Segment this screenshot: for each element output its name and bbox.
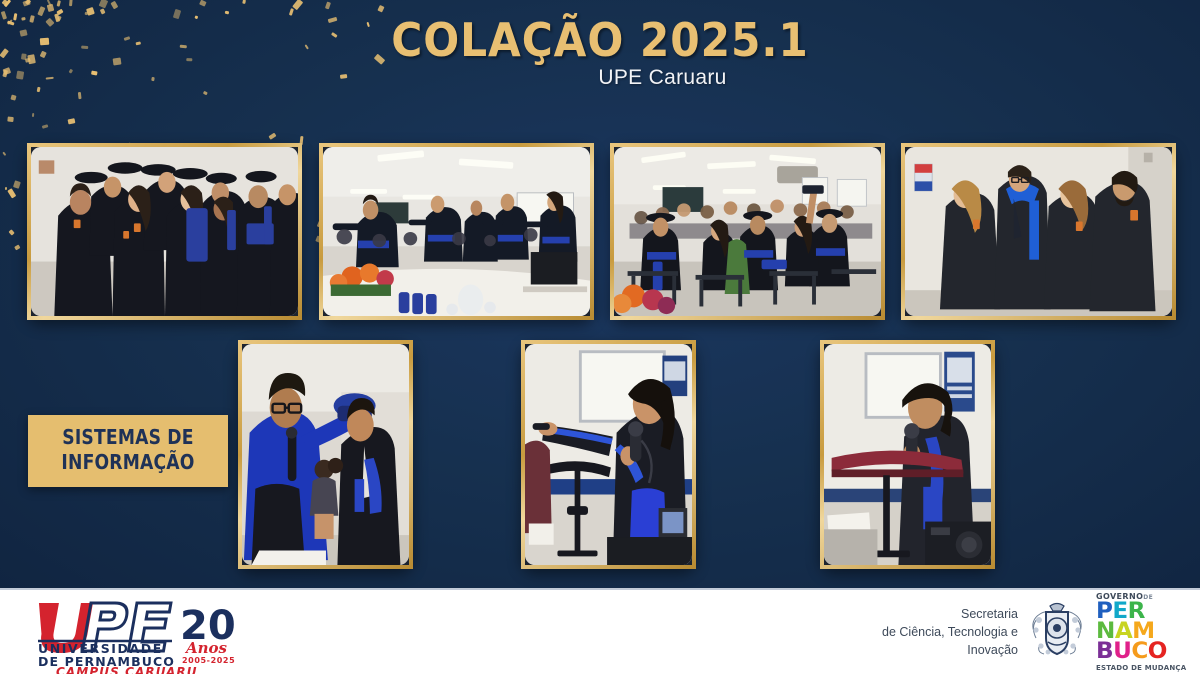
photo-frame-seated-audience[interactable] [610,143,885,320]
svg-text:2005-2025: 2005-2025 [182,656,235,665]
government-tagline: ESTADO DE MUDANÇA [1096,664,1192,672]
slide-canvas: COLAÇÃO 2025.1 UPE Caruaru [0,0,1200,674]
government-row-3: BUCO [1096,642,1197,662]
photo-frame-speaker-man[interactable] [820,340,995,569]
course-badge-line1: SISTEMAS DE [47,425,209,450]
upe-logo: UNIVERSIDADE DE PERNAMBUCO 20 Anos 2005-… [26,597,266,667]
photo-cap-placing [242,344,409,565]
svg-text:Anos: Anos [184,639,228,657]
photo-seated-audience [614,147,881,316]
photo-speaker-man [824,344,991,565]
photo-speaker-woman [525,344,692,565]
upe-campus-label: CAMPUS CARUARU [56,665,198,674]
secretariat-text: Secretaria de Ciência, Tecnologia e Inov… [882,605,1018,659]
photo-frame-cap-placing[interactable] [238,340,413,569]
coat-of-arms-icon [1026,598,1088,665]
footer-bar: UNIVERSIDADE DE PERNAMBUCO 20 Anos 2005-… [0,588,1200,674]
course-badge-line2: INFORMAÇÃO [47,450,209,475]
page-title: COLAÇÃO 2025.1 [48,16,1152,64]
photo-faculty-four [905,147,1172,316]
government-logo: GOVERNODE PER NAM BUCO ESTADO DE MUDANÇA [1096,592,1192,673]
footer-right-block: Secretaria de Ciência, Tecnologia e Inov… [882,592,1192,673]
photo-oath-ceremony [323,147,590,316]
photo-graduates-group [31,147,298,316]
title-block: COLAÇÃO 2025.1 UPE Caruaru [0,16,1200,90]
course-badge: SISTEMAS DE INFORMAÇÃO [28,415,228,487]
photo-frame-graduates-group[interactable] [27,143,302,320]
secretariat-line1: Secretaria [882,605,1018,623]
secretariat-line3: Inovação [882,641,1018,659]
photo-frame-oath-ceremony[interactable] [319,143,594,320]
upe-logo-block: UNIVERSIDADE DE PERNAMBUCO 20 Anos 2005-… [26,597,266,667]
photo-frame-faculty-four[interactable] [901,143,1176,320]
page-subtitle: UPE Caruaru [125,66,1200,90]
photo-frame-speaker-woman[interactable] [521,340,696,569]
secretariat-line2: de Ciência, Tecnologia e [882,623,1018,641]
